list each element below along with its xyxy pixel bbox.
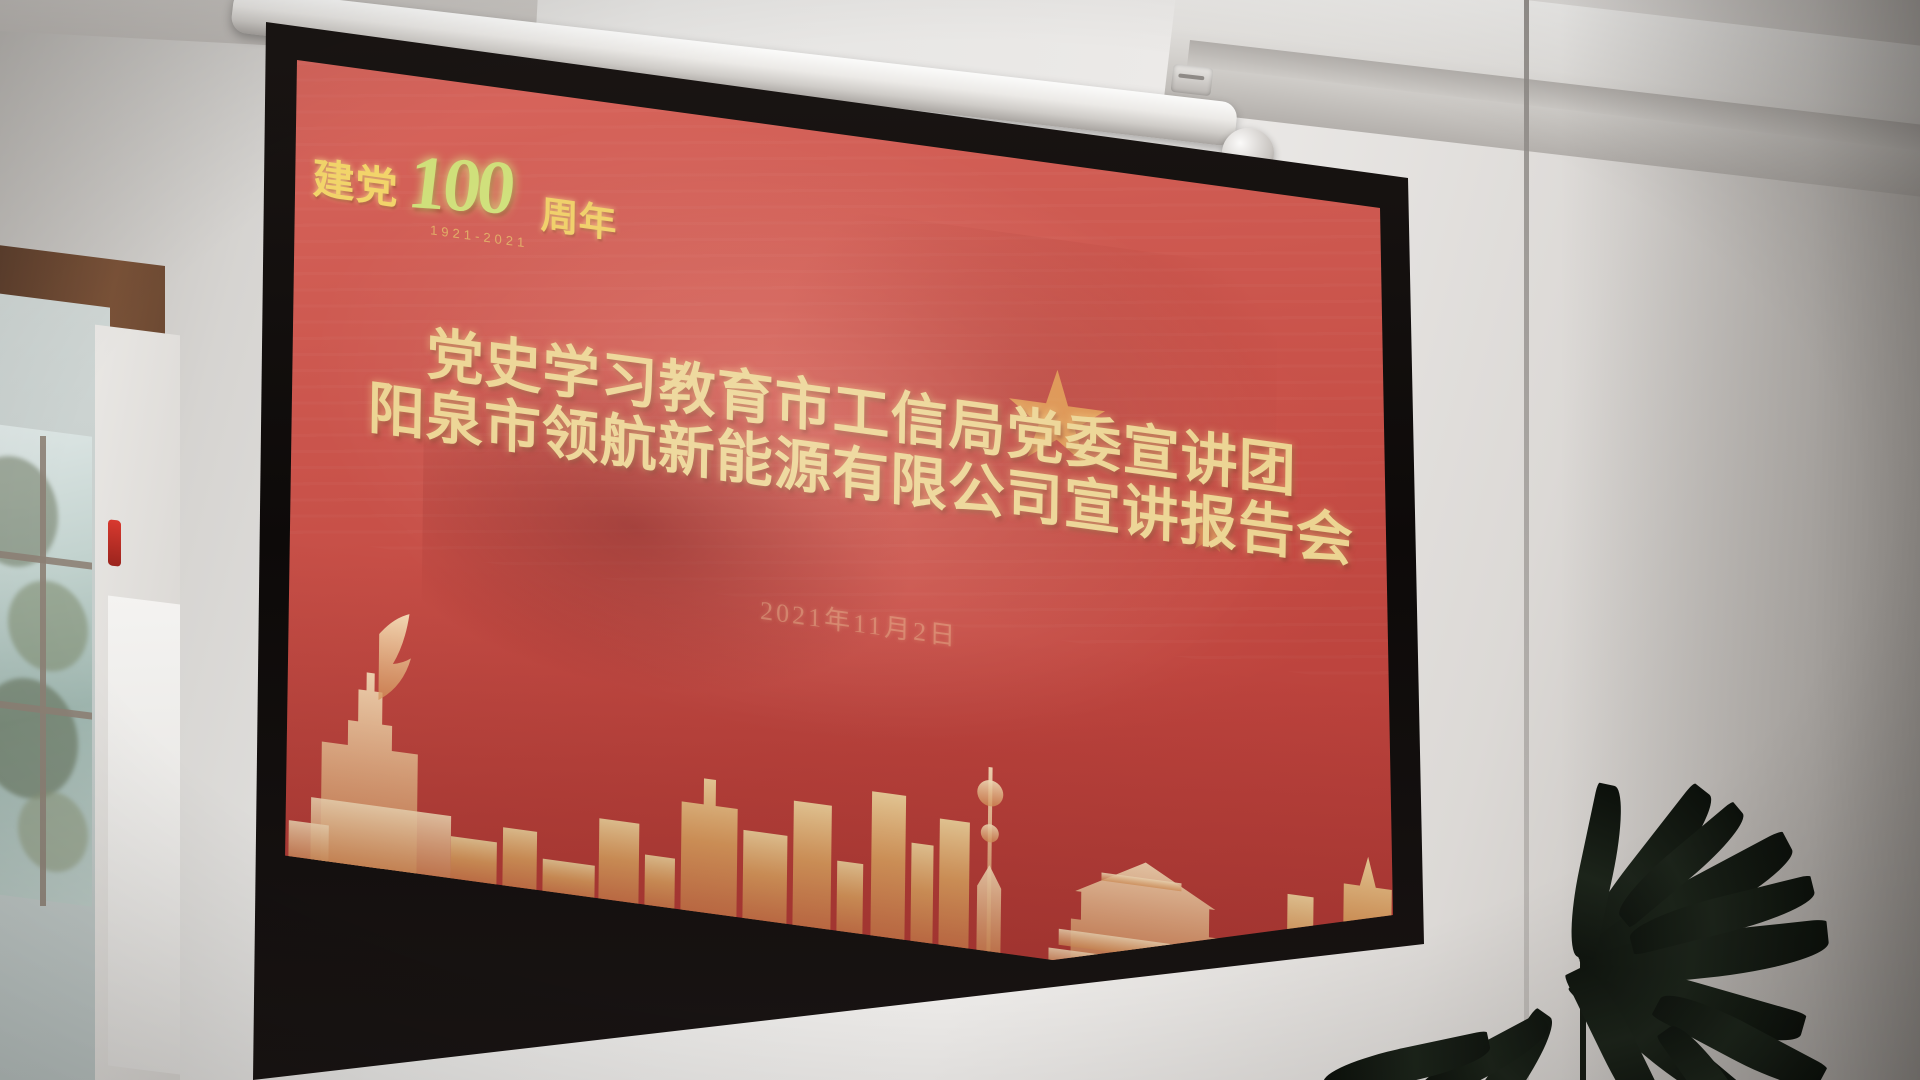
- wall-sensor-icon: [1171, 64, 1214, 96]
- room-photo: 建党 100 周年 1921-2021 党史学习教育市工信局党委宣讲团 阳泉市领…: [0, 0, 1920, 1080]
- potted-plant: [1430, 600, 1920, 1080]
- presentation-slide: 建党 100 周年 1921-2021 党史学习教育市工信局党委宣讲团 阳泉市领…: [280, 55, 1440, 1011]
- slide-lighting: [280, 55, 1440, 1011]
